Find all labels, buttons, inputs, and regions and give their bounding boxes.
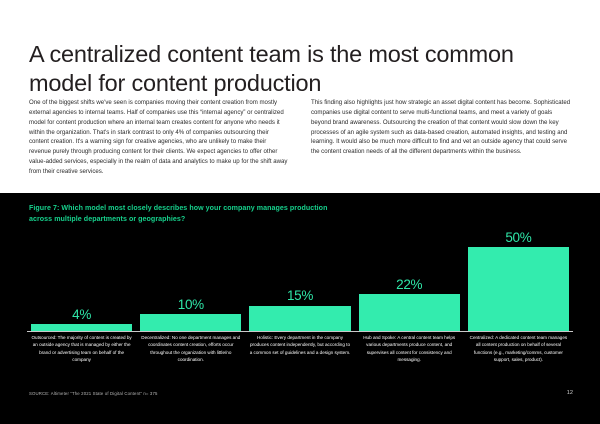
bar-rect-centralized [468,247,569,331]
document-page: A centralized content team is the most c… [0,0,600,424]
body-column-left: One of the biggest shifts we've seen is … [29,98,289,177]
figure-panel: Figure 7: Which model most closely descr… [0,193,600,424]
category-label-decentralized: Decentralized: No one department manages… [136,334,245,364]
bar-rect-holistic [249,306,350,331]
category-label-holistic: Holistic: Every department in the compan… [245,334,354,364]
body-column-right: This finding also highlights just how st… [311,98,571,177]
bar-slot-centralized: 50% [464,229,573,331]
bar-value-outsourced: 4% [72,308,91,322]
bar-chart: 4% 10% 15% 22% 50% [27,229,573,331]
category-labels: Outsourced: The majority of content is c… [27,334,573,364]
bar-slot-hub-and-spoke: 22% [355,229,464,331]
bar-value-hub-and-spoke: 22% [396,278,422,292]
bar-slot-decentralized: 10% [136,229,245,331]
body-columns: One of the biggest shifts we've seen is … [29,98,572,177]
bar-value-decentralized: 10% [178,298,204,312]
body-paragraph-left: One of the biggest shifts we've seen is … [29,98,289,177]
body-paragraph-right: This finding also highlights just how st… [311,98,571,157]
figure-title: Figure 7: Which model most closely descr… [29,203,329,225]
bar-group: 4% 10% 15% 22% 50% [27,229,573,331]
category-label-centralized: Centralized: A dedicated content team ma… [464,334,573,364]
bar-slot-outsourced: 4% [27,229,136,331]
bar-value-centralized: 50% [505,231,531,245]
bar-rect-hub-and-spoke [359,294,460,331]
chart-baseline-axis [27,331,573,332]
page-title: A centralized content team is the most c… [29,40,569,99]
bar-slot-holistic: 15% [245,229,354,331]
page-number: 12 [567,390,573,396]
source-note: SOURCE: Altimeter “The 2021 State of Dig… [29,391,158,396]
bar-value-holistic: 15% [287,289,313,303]
bar-rect-outsourced [31,324,132,331]
bar-rect-decentralized [140,314,241,331]
category-label-hub-and-spoke: Hub and Spoke: A central content team he… [355,334,464,364]
category-label-outsourced: Outsourced: The majority of content is c… [27,334,136,364]
